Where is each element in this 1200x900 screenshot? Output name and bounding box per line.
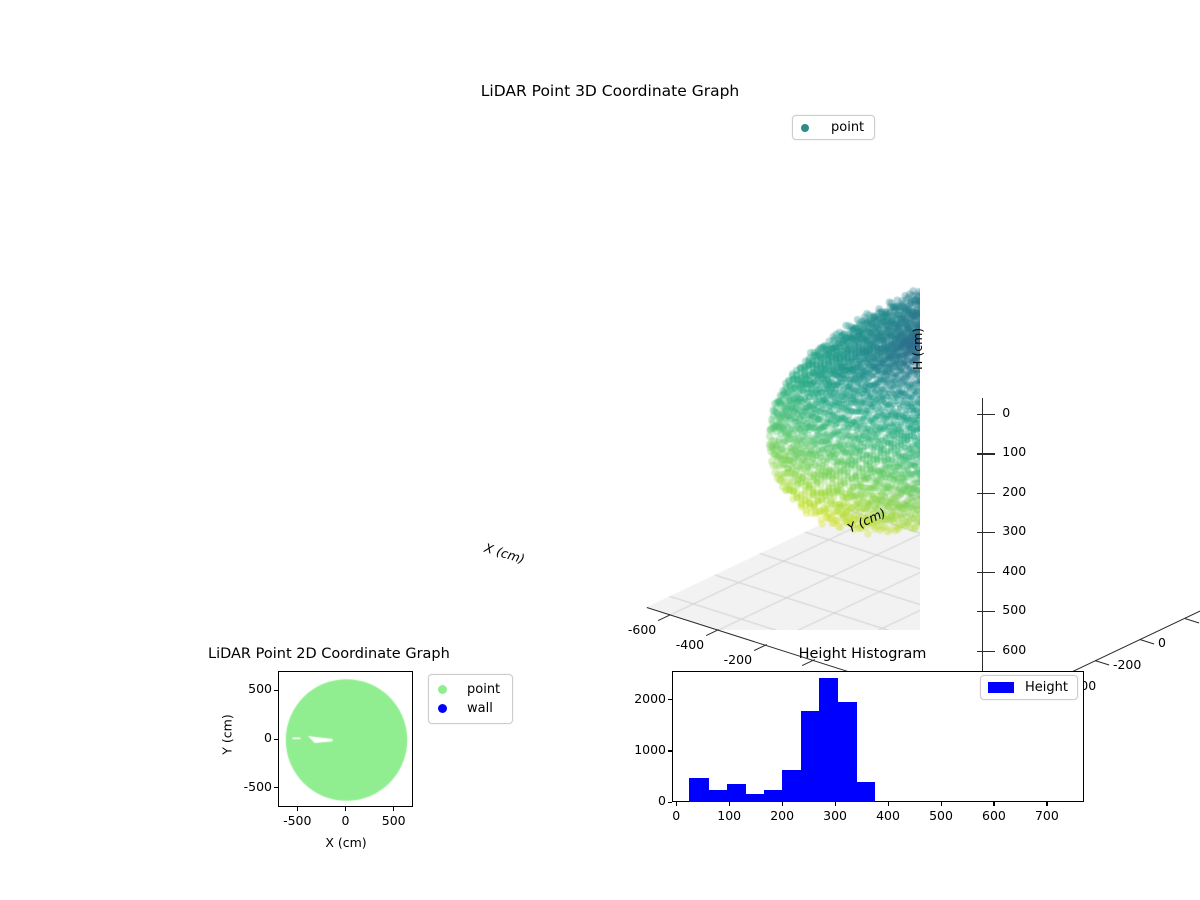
histogram-bar	[819, 678, 838, 802]
h-tick-label-4: 400	[1002, 563, 1026, 578]
histogram-bar	[801, 711, 820, 802]
hist-x-tick-label-4: 400	[862, 808, 914, 823]
x-tick-mark-1	[345, 807, 346, 811]
lidar-2d-panel: LiDAR Point 2D Coordinate Graph 5000-500…	[150, 635, 570, 875]
plot2d-axes[interactable]	[278, 671, 413, 807]
h-tick-label-3: 300	[1002, 523, 1026, 538]
hist-x-tick-7	[1046, 802, 1047, 806]
histogram-bar	[727, 784, 746, 802]
hist-x-tick-2	[782, 802, 783, 806]
h-tick-mark	[977, 611, 995, 612]
lidar-3d-panel: LiDAR Point 3D Coordinate Graph point -6…	[300, 70, 920, 630]
hist-y-tick-2	[668, 699, 672, 700]
x-tick-mark-2	[393, 807, 394, 811]
hist-x-tick-6	[993, 802, 994, 806]
legend-row-point: point	[438, 680, 500, 699]
height-histogram-panel: Height Histogram 01000200001002003004005…	[640, 635, 1100, 875]
matplotlib-figure: LiDAR Point 3D Coordinate Graph point -6…	[0, 0, 1200, 900]
legend-patch-height-icon	[988, 682, 1014, 693]
lidar-3d-scatter-canvas[interactable]	[300, 70, 920, 630]
hist-x-tick-label-0: 0	[650, 808, 702, 823]
y-tick-label-0: 500	[232, 681, 272, 696]
hist-x-tick-label-2: 200	[756, 808, 808, 823]
hist-x-tick-label-5: 500	[915, 808, 967, 823]
plot2d-xlabel: X (cm)	[298, 835, 394, 850]
h-tick-label-1: 100	[1002, 444, 1026, 459]
histogram-legend[interactable]: Height	[980, 675, 1078, 700]
histogram-bar	[764, 790, 783, 802]
h-tick-label-2: 200	[1002, 484, 1026, 499]
x-tick-label-2: 500	[368, 813, 420, 828]
hist-x-tick-4	[888, 802, 889, 806]
y-tick-label-1: 0	[232, 730, 272, 745]
plot2d-legend[interactable]: point wall	[428, 674, 513, 724]
h-tick-mark	[977, 572, 995, 573]
hist-y-tick-0	[668, 802, 672, 803]
h-tick-mark	[977, 493, 995, 494]
hist-x-tick-label-1: 100	[703, 808, 755, 823]
legend-label-point: point	[467, 682, 500, 697]
hist-y-tick-label-1: 1000	[618, 742, 666, 757]
y-tick-mark-0	[274, 690, 278, 691]
y-tick-mark-1	[274, 739, 278, 740]
histogram-bar	[689, 778, 708, 802]
y-tick-label-2: -200	[1113, 657, 1141, 672]
hist-x-tick-label-6: 600	[968, 808, 1020, 823]
hist-x-tick-0	[676, 802, 677, 806]
legend-marker-wall-icon	[438, 704, 447, 713]
x-tick-label-0: -500	[271, 813, 323, 828]
histogram-bar	[782, 770, 801, 802]
histogram-bar	[708, 790, 727, 802]
x-tick-label-1: 0	[320, 813, 372, 828]
plot2d-ylabel: Y (cm)	[220, 700, 235, 770]
legend-label-wall: wall	[467, 701, 493, 716]
hist-y-tick-label-0: 0	[618, 793, 666, 808]
hist-x-tick-1	[729, 802, 730, 806]
h-tick-mark	[977, 532, 995, 533]
hist-y-tick-1	[668, 750, 672, 751]
y-tick-mark-2	[274, 787, 278, 788]
lidar-2d-scatter-canvas[interactable]	[279, 672, 414, 808]
x-tick-mark-0	[297, 807, 298, 811]
histogram-bar	[838, 702, 857, 802]
hist-x-tick-label-3: 300	[809, 808, 861, 823]
hist-x-tick-5	[941, 802, 942, 806]
plot2d-title: LiDAR Point 2D Coordinate Graph	[208, 646, 450, 662]
histogram-title: Height Histogram	[640, 646, 1085, 662]
hist-y-tick-label-2: 2000	[618, 691, 666, 706]
y-tick-label-3: 0	[1158, 635, 1166, 650]
h-axis-label: H (cm)	[910, 328, 925, 370]
y-tick-mark	[1185, 618, 1199, 623]
hist-x-tick-3	[835, 802, 836, 806]
y-tick-mark	[1140, 639, 1154, 644]
legend-row-wall: wall	[438, 699, 500, 718]
histogram-bar	[856, 782, 875, 802]
h-tick-mark	[977, 414, 995, 415]
legend-marker-point-icon	[438, 685, 447, 694]
legend-label-height: Height	[1025, 680, 1068, 695]
histogram-bar	[745, 794, 764, 802]
h-tick-mark	[977, 453, 995, 454]
hist-x-tick-label-7: 700	[1021, 808, 1073, 823]
h-tick-label-5: 500	[1002, 602, 1026, 617]
h-tick-label-0: 0	[1002, 405, 1010, 420]
y-tick-label-2: -500	[232, 779, 272, 794]
